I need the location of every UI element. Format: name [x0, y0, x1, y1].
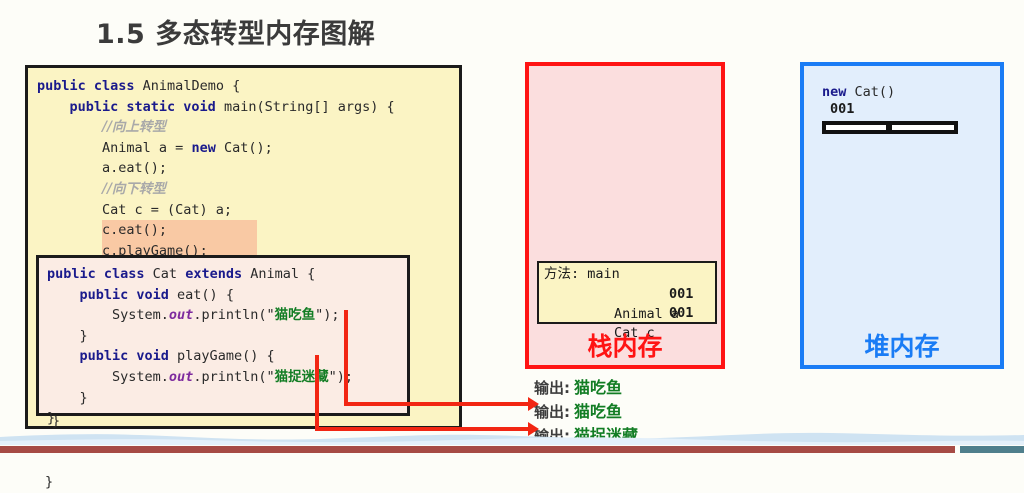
heap-constructor: Cat(): [855, 84, 896, 100]
stack-memory-box: 方法: main Animal a 001 Cat c 001 栈内存: [525, 62, 725, 369]
output-line-1: 输出:猫吃鱼: [534, 400, 638, 424]
heap-memory-box: new Cat() 001 堆内存: [800, 62, 1004, 369]
code-lines: public class AnimalDemo { public static …: [37, 76, 455, 282]
code-block-cat-class: public class Cat extends Animal { public…: [36, 255, 410, 416]
arrow-eat-horizontal: [344, 402, 530, 406]
heap-cell-1: [890, 121, 958, 134]
comment-downcast: //向下转型: [102, 181, 166, 197]
heap-object-header: new Cat(): [822, 84, 958, 101]
arrow-playgame-vertical: [315, 355, 319, 431]
heap-new-keyword: new: [822, 84, 846, 100]
page-title: 1.5 多态转型内存图解: [96, 12, 375, 51]
cat-line-7: }: [47, 388, 353, 409]
cat-line-2: public void eat() {: [47, 285, 353, 306]
bottom-band-teal: [960, 446, 1024, 453]
code-line-5: a.eat();: [37, 158, 455, 179]
cat-line-6: System.out.println("猫捉迷藏");: [47, 367, 353, 388]
stack-frame-title: 方法: main: [544, 264, 620, 284]
cat-code-lines: public class Cat extends Animal { public…: [47, 264, 353, 429]
cat-line-3: System.out.println("猫吃鱼");: [47, 305, 353, 326]
outer-class-closing-brace: }: [52, 413, 60, 429]
heap-object-address: 001: [830, 101, 958, 118]
string-cat-hide-seek: 猫捉迷藏: [275, 369, 329, 385]
mountain-decoration-icon: [0, 423, 1024, 445]
output-value-1: 猫吃鱼: [574, 402, 622, 421]
code-line-1: public class AnimalDemo {: [37, 76, 455, 97]
heap-object-cells: [822, 121, 958, 134]
heap-object-cat: new Cat() 001: [822, 84, 958, 134]
code-line-6-comment: //向下转型: [37, 179, 455, 200]
output-prefix-1: 输出:: [534, 403, 570, 421]
stack-var-value-1: 001: [669, 303, 693, 323]
output-prefix-0: 输出:: [534, 379, 570, 397]
arrow-eat-vertical: [344, 310, 348, 406]
cat-line-5: public void playGame() {: [47, 346, 353, 367]
string-cat-eats-fish: 猫吃鱼: [275, 307, 316, 323]
cat-line-1: public class Cat extends Animal {: [47, 264, 353, 285]
code-line-2: public static void main(String[] args) {: [37, 97, 455, 118]
stack-memory-label: 栈内存: [529, 327, 721, 363]
cat-line-4: }: [47, 326, 353, 347]
output-value-0: 猫吃鱼: [574, 378, 622, 397]
stack-frame-main: 方法: main Animal a 001 Cat c 001: [537, 261, 717, 324]
output-line-0: 输出:猫吃鱼: [534, 376, 638, 400]
arrow-eat-head: [528, 397, 539, 411]
stack-var-value-0: 001: [669, 284, 693, 304]
code-line-4: Animal a = new Cat();: [37, 138, 455, 159]
code-line-closing-brace-main: }: [45, 472, 53, 493]
highlight-c-eat: c.eat();: [102, 220, 257, 241]
code-line-3-comment: //向上转型: [37, 117, 455, 138]
bottom-band-red: [0, 446, 955, 453]
comment-upcast-1: //向上转型: [102, 119, 166, 135]
heap-memory-label: 堆内存: [804, 327, 1000, 363]
heap-cell-0: [822, 121, 890, 134]
code-line-7: Cat c = (Cat) a;: [37, 200, 455, 221]
code-line-8-highlighted: c.eat();: [37, 220, 455, 241]
slide-canvas: 1.5 多态转型内存图解 public class AnimalDemo { p…: [0, 0, 1024, 455]
